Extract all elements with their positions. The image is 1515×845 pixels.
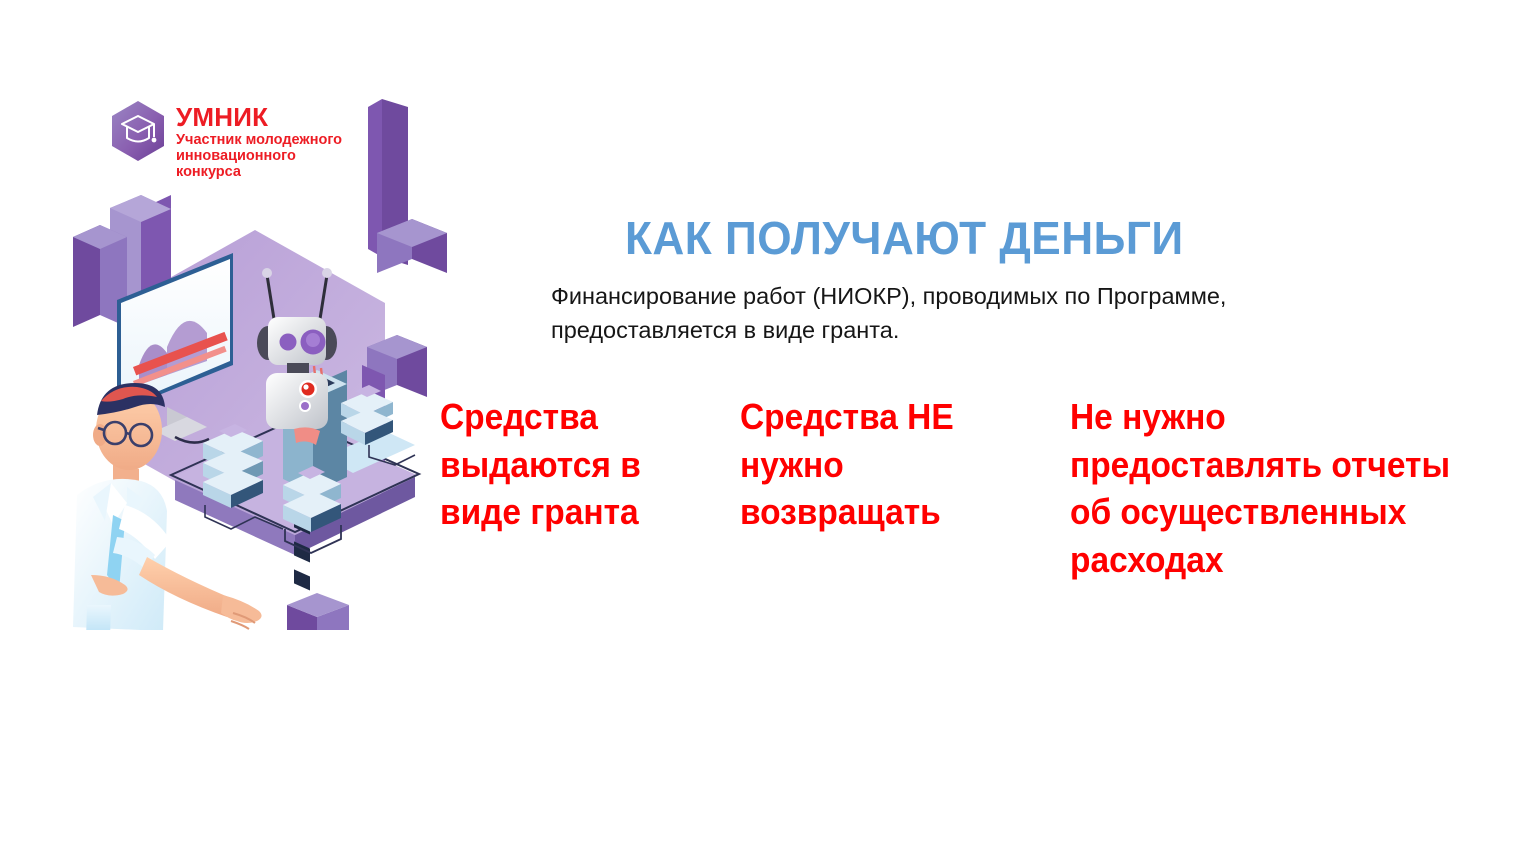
- logo-subtitle: Участник молодежного инновационного конк…: [176, 132, 346, 181]
- logo-text: УМНИК Участник молодежного инновационног…: [176, 100, 346, 181]
- graduation-cap-hexagon-icon: [110, 100, 166, 162]
- isometric-block-bottom-right: [287, 593, 349, 630]
- subtitle-paragraph: Финансирование работ (НИОКР), проводимых…: [551, 279, 1411, 347]
- statement-columns: Средства выдаются в виде гранта Средства…: [440, 393, 1480, 583]
- statement-3: Не нужно предоставлять отчеты об осущест…: [1070, 393, 1451, 583]
- page-title: КАК ПОЛУЧАЮТ ДЕНЬГИ: [625, 211, 1184, 265]
- statement-1: Средства выдаются в виде гранта: [440, 393, 719, 536]
- umnik-logo: УМНИК Участник молодежного инновационног…: [110, 100, 346, 181]
- statement-2: Средства НЕ нужно возвращать: [740, 393, 1047, 536]
- logo-title: УМНИК: [176, 104, 346, 130]
